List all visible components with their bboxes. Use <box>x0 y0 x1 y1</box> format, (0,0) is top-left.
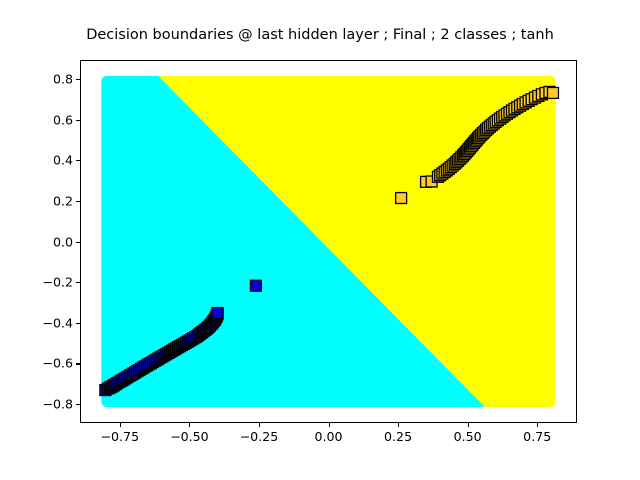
x-tick-mark <box>259 423 260 427</box>
x-tick-label: 0.75 <box>523 429 551 444</box>
y-tick-mark <box>76 242 80 243</box>
y-tick-label: 0.2 <box>53 193 73 208</box>
x-axis-tick-labels: −0.75−0.50−0.250.000.250.500.75 <box>80 429 577 449</box>
y-tick-mark <box>76 79 80 80</box>
page-title: Decision boundaries @ last hidden layer … <box>0 27 640 43</box>
scatter-series-class-0 <box>100 280 261 395</box>
x-tick-mark <box>398 423 399 427</box>
scatter-points-layer <box>81 61 576 422</box>
y-tick-mark <box>76 120 80 121</box>
y-tick-label: 0.8 <box>53 71 73 86</box>
y-tick-mark <box>76 201 80 202</box>
y-tick-label: 0.4 <box>53 153 73 168</box>
x-tick-mark <box>189 423 190 427</box>
y-axis-tick-labels: −0.8−0.6−0.4−0.20.00.20.40.60.8 <box>20 60 73 423</box>
scatter-point <box>212 308 223 319</box>
y-tick-mark <box>76 323 80 324</box>
y-tick-label: −0.6 <box>42 356 73 371</box>
scatter-point <box>250 280 261 291</box>
x-tick-label: 0.50 <box>454 429 482 444</box>
plot-axes <box>80 60 577 423</box>
scatter-series-class-1 <box>396 86 559 203</box>
x-tick-label: 0.25 <box>384 429 412 444</box>
y-tick-mark <box>76 363 80 364</box>
x-tick-label: 0.00 <box>314 429 342 444</box>
y-tick-mark <box>76 160 80 161</box>
x-tick-label: −0.25 <box>240 429 279 444</box>
x-tick-mark <box>329 423 330 427</box>
x-tick-mark <box>537 423 538 427</box>
x-tick-mark <box>468 423 469 427</box>
y-tick-mark <box>76 282 80 283</box>
scatter-point <box>396 193 407 204</box>
matplotlib-figure: Decision boundaries @ last hidden layer … <box>0 0 640 480</box>
scatter-point <box>548 87 559 98</box>
y-tick-label: −0.4 <box>42 315 73 330</box>
y-tick-label: −0.8 <box>42 397 73 412</box>
y-tick-label: −0.2 <box>42 275 73 290</box>
y-tick-mark <box>76 404 80 405</box>
x-tick-label: −0.75 <box>100 429 139 444</box>
y-tick-label: 0.0 <box>53 234 73 249</box>
y-tick-label: 0.6 <box>53 112 73 127</box>
x-tick-label: −0.50 <box>170 429 209 444</box>
x-tick-mark <box>120 423 121 427</box>
